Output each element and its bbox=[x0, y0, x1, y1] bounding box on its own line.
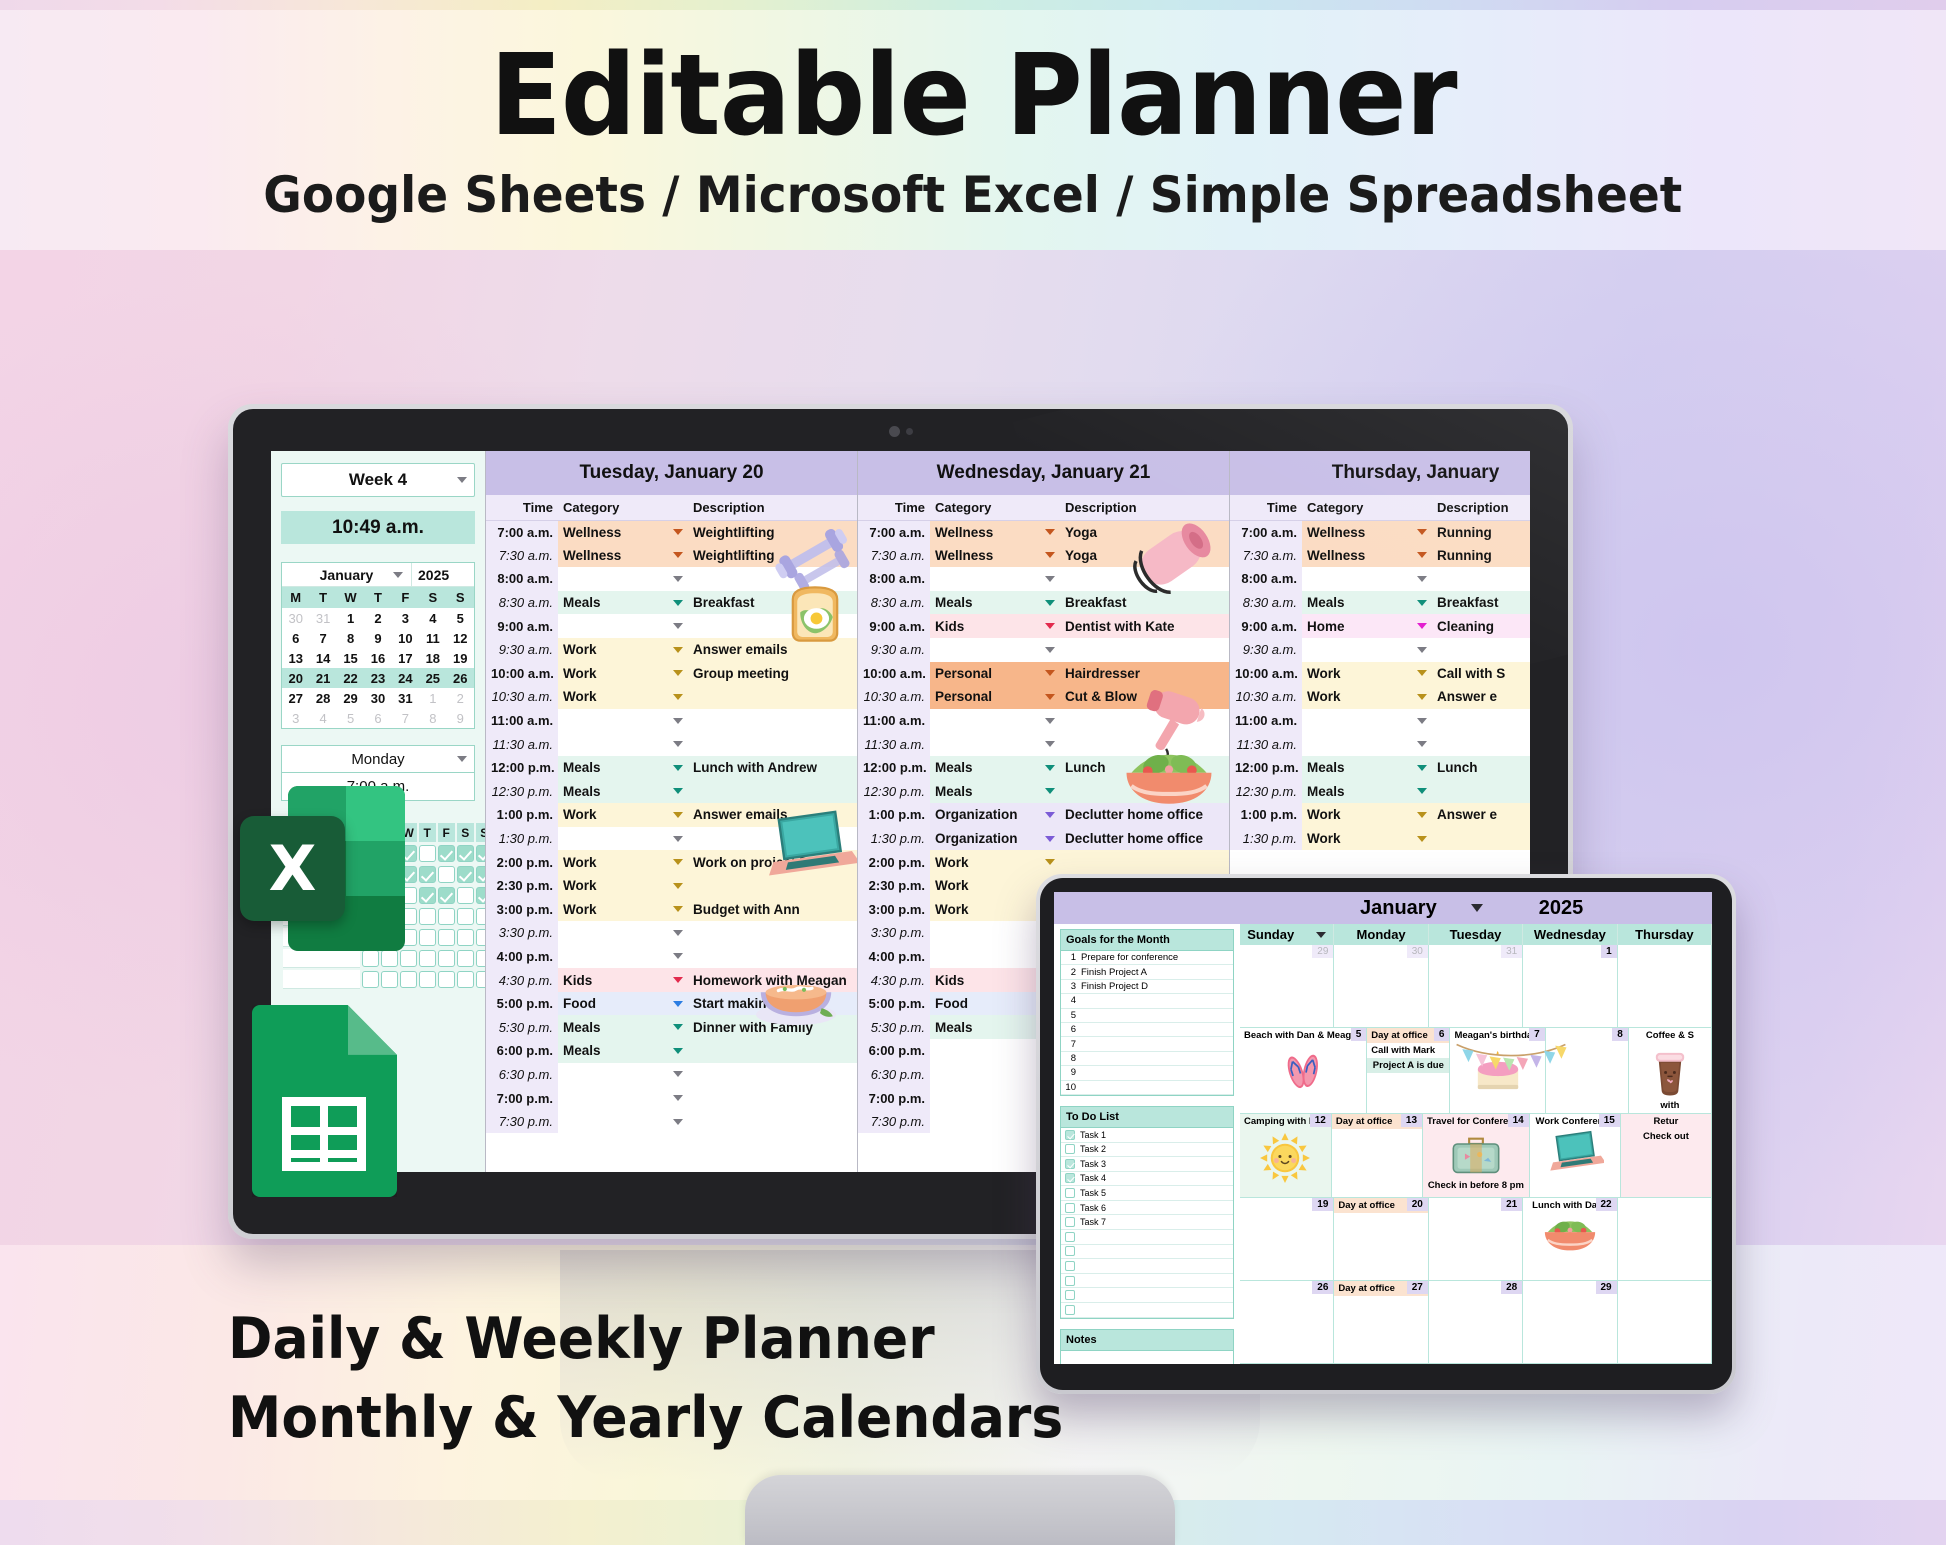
habit-checkbox[interactable] bbox=[438, 928, 455, 947]
habit-checkbox[interactable] bbox=[362, 949, 379, 968]
planner-row: 12:30 p.m.Meals bbox=[858, 780, 1229, 804]
monthly-day-cell[interactable]: 15Work Conference bbox=[1530, 1114, 1621, 1196]
row-category[interactable]: Work bbox=[558, 898, 688, 922]
hero-banner: Editable Planner Google Sheets / Microso… bbox=[0, 10, 1946, 250]
habit-name[interactable] bbox=[283, 949, 360, 968]
mini-calendar-day[interactable]: 3 bbox=[392, 608, 419, 628]
row-description[interactable]: Weightlifting bbox=[688, 520, 857, 544]
goal-number: 5 bbox=[1061, 1010, 1081, 1021]
habit-checkbox[interactable] bbox=[457, 949, 474, 968]
year-field[interactable]: 2025 bbox=[412, 563, 474, 586]
row-description[interactable]: Work on project E bbox=[688, 850, 857, 874]
mini-calendar-day[interactable]: 31 bbox=[392, 688, 419, 708]
habit-checkbox[interactable] bbox=[419, 949, 436, 968]
todo-checkbox[interactable] bbox=[1065, 1173, 1075, 1183]
monthly-day-cell[interactable]: 31 bbox=[1429, 945, 1523, 1027]
row-description[interactable] bbox=[1432, 780, 1530, 804]
todo-row[interactable]: Task 2 bbox=[1061, 1143, 1233, 1158]
monthly-dow-sunday: Sunday bbox=[1240, 924, 1334, 945]
todo-checkbox[interactable] bbox=[1065, 1159, 1075, 1169]
row-description[interactable]: Yoga bbox=[1060, 544, 1229, 568]
mini-calendar-day[interactable]: 8 bbox=[419, 708, 446, 728]
mini-calendar-day[interactable]: 2 bbox=[447, 688, 474, 708]
row-description[interactable] bbox=[688, 1110, 857, 1134]
row-time: 1:30 p.m. bbox=[486, 827, 558, 851]
day-column-title: Thursday, January bbox=[1230, 451, 1530, 495]
habit-checkbox[interactable] bbox=[381, 949, 398, 968]
habit-checkbox[interactable] bbox=[419, 928, 436, 947]
row-category[interactable]: Meals bbox=[558, 1015, 688, 1039]
row-category[interactable]: Meals bbox=[930, 756, 1060, 780]
row-category[interactable]: Work bbox=[930, 850, 1060, 874]
row-description[interactable] bbox=[1432, 638, 1530, 662]
row-time: 10:30 a.m. bbox=[1230, 685, 1302, 709]
monthly-day-cell[interactable]: 12Camping with Dan bbox=[1240, 1114, 1332, 1196]
row-category[interactable]: Wellness bbox=[1302, 520, 1432, 544]
row-category[interactable]: Meals bbox=[558, 756, 688, 780]
todo-checkbox[interactable] bbox=[1065, 1290, 1075, 1300]
row-description[interactable]: Weightlifting bbox=[688, 544, 857, 568]
mini-calendar-day[interactable]: 1 bbox=[419, 688, 446, 708]
row-category[interactable]: Meals bbox=[558, 591, 688, 615]
row-description[interactable]: Running bbox=[1432, 520, 1530, 544]
row-category[interactable]: Work bbox=[558, 685, 688, 709]
mini-calendar-dow-2: W bbox=[337, 587, 364, 608]
chevron-down-icon bbox=[1045, 741, 1055, 747]
monthly-dow-wednesday: Wednesday bbox=[1523, 924, 1617, 945]
mini-calendar-day[interactable]: 20 bbox=[282, 668, 309, 688]
row-description[interactable] bbox=[1432, 732, 1530, 756]
mini-calendar-day[interactable]: 27 bbox=[282, 688, 309, 708]
monthly-day-cell[interactable]: 22Lunch with Dave bbox=[1523, 1198, 1617, 1280]
calendar-event[interactable]: Beach with Dan & Meagan bbox=[1240, 1028, 1366, 1043]
habit-checkbox[interactable] bbox=[457, 907, 474, 926]
calendar-event[interactable]: Call with Mark bbox=[1367, 1043, 1449, 1058]
mini-calendar-day[interactable]: 9 bbox=[447, 708, 474, 728]
row-category[interactable]: Meals bbox=[1302, 756, 1432, 780]
row-description[interactable] bbox=[1060, 638, 1229, 662]
todo-checkbox[interactable] bbox=[1065, 1217, 1075, 1227]
habit-checkbox[interactable] bbox=[438, 886, 455, 905]
mini-calendar-day[interactable]: 15 bbox=[337, 648, 364, 668]
chevron-down-icon bbox=[1045, 859, 1055, 865]
habit-checkbox[interactable] bbox=[438, 970, 455, 989]
planner-row: 2:30 p.m.Work bbox=[486, 874, 857, 898]
row-description[interactable]: Breakfast bbox=[1432, 591, 1530, 615]
todo-checkbox[interactable] bbox=[1065, 1203, 1075, 1213]
todo-row[interactable]: Task 4 bbox=[1061, 1172, 1233, 1187]
mini-calendar-day[interactable]: 12 bbox=[447, 628, 474, 648]
row-description[interactable] bbox=[688, 614, 857, 638]
row-description[interactable]: Lunch bbox=[1060, 756, 1229, 780]
microsoft-excel-icon: X bbox=[240, 786, 405, 951]
mini-calendar-week: 303112345 bbox=[282, 608, 474, 628]
row-description[interactable]: Homework with Meagan bbox=[688, 968, 857, 992]
row-category[interactable]: Work bbox=[558, 803, 688, 827]
mini-calendar-day[interactable]: 26 bbox=[447, 668, 474, 688]
row-time: 3:30 p.m. bbox=[858, 921, 930, 945]
mini-calendar-day[interactable]: 19 bbox=[447, 648, 474, 668]
week-selector[interactable]: Week 4 bbox=[281, 463, 475, 497]
monthly-day-cell[interactable]: 5Beach with Dan & Meagan bbox=[1240, 1028, 1367, 1113]
goal-row[interactable]: 10 bbox=[1061, 1081, 1233, 1095]
row-category[interactable]: Work bbox=[1302, 827, 1432, 851]
row-category[interactable]: Organization bbox=[930, 827, 1060, 851]
row-description[interactable] bbox=[688, 945, 857, 969]
row-description[interactable]: Breakfast bbox=[1060, 591, 1229, 615]
habit-checkbox[interactable] bbox=[419, 844, 436, 863]
row-category[interactable]: Work bbox=[1302, 662, 1432, 686]
row-description[interactable] bbox=[1060, 850, 1229, 874]
monthly-day-cell[interactable]: 8 bbox=[1546, 1028, 1629, 1113]
row-category[interactable] bbox=[1302, 732, 1432, 756]
mini-calendar-day[interactable]: 31 bbox=[309, 608, 336, 628]
row-time: 2:30 p.m. bbox=[486, 874, 558, 898]
row-category[interactable] bbox=[930, 638, 1060, 662]
habit-name[interactable] bbox=[283, 970, 360, 989]
row-category[interactable] bbox=[1302, 709, 1432, 733]
goal-row[interactable]: 6 bbox=[1061, 1023, 1233, 1037]
row-description[interactable]: Lunch bbox=[1432, 756, 1530, 780]
mini-calendar-day[interactable]: 4 bbox=[419, 608, 446, 628]
month-selector[interactable]: January bbox=[1360, 897, 1483, 920]
tagline-line-2: Monthly & Yearly Calendars bbox=[228, 1379, 1168, 1458]
row-description[interactable] bbox=[688, 709, 857, 733]
row-category[interactable] bbox=[558, 921, 688, 945]
day-selector[interactable]: Monday bbox=[281, 745, 475, 773]
goal-row[interactable]: 5 bbox=[1061, 1009, 1233, 1023]
habit-checkbox[interactable] bbox=[419, 970, 436, 989]
row-description[interactable]: Cut & Blow bbox=[1060, 685, 1229, 709]
habit-checkbox[interactable] bbox=[400, 949, 417, 968]
monthly-day-cell[interactable] bbox=[1618, 1198, 1712, 1280]
row-category[interactable]: Food bbox=[558, 992, 688, 1016]
habit-checkbox[interactable] bbox=[419, 886, 436, 905]
todo-row[interactable] bbox=[1061, 1274, 1233, 1289]
mini-calendar-day[interactable]: 28 bbox=[309, 688, 336, 708]
row-description[interactable] bbox=[1432, 827, 1530, 851]
row-category[interactable]: Meals bbox=[1302, 780, 1432, 804]
monthly-day-cell[interactable]: 30 bbox=[1334, 945, 1428, 1027]
row-description[interactable]: Breakfast bbox=[688, 591, 857, 615]
birthday-cake-sticker bbox=[1468, 1044, 1528, 1094]
goal-row[interactable]: 1Prepare for conference bbox=[1061, 951, 1233, 965]
row-description[interactable] bbox=[688, 921, 857, 945]
todo-row[interactable]: Task 7 bbox=[1061, 1215, 1233, 1230]
row-category[interactable]: Work bbox=[1302, 803, 1432, 827]
row-description[interactable] bbox=[1060, 567, 1229, 591]
row-category[interactable] bbox=[558, 732, 688, 756]
row-description[interactable] bbox=[688, 567, 857, 591]
row-time: 11:30 a.m. bbox=[486, 732, 558, 756]
row-description[interactable] bbox=[688, 874, 857, 898]
habit-checkbox[interactable] bbox=[457, 928, 474, 947]
monthly-day-cell[interactable]: Coffee & Swith bbox=[1629, 1028, 1712, 1113]
row-description[interactable] bbox=[688, 1039, 857, 1063]
row-description[interactable]: Answer e bbox=[1432, 803, 1530, 827]
tagline-line-1: Daily & Weekly Planner bbox=[228, 1300, 1168, 1379]
todo-checkbox[interactable] bbox=[1065, 1144, 1075, 1154]
monthly-day-cell[interactable]: 19 bbox=[1240, 1198, 1334, 1280]
row-time: 10:00 a.m. bbox=[486, 662, 558, 686]
row-category[interactable] bbox=[558, 709, 688, 733]
row-description[interactable]: Answer e bbox=[1432, 685, 1530, 709]
todo-row[interactable] bbox=[1061, 1245, 1233, 1260]
habit-checkbox[interactable] bbox=[362, 970, 379, 989]
monthly-day-cell[interactable]: 14Travel for ConferenceCheck in before 8… bbox=[1423, 1114, 1530, 1196]
todo-checkbox[interactable] bbox=[1065, 1276, 1075, 1286]
todo-checkbox[interactable] bbox=[1065, 1232, 1075, 1242]
planner-row: 7:00 p.m. bbox=[486, 1086, 857, 1110]
row-category[interactable] bbox=[558, 614, 688, 638]
row-category[interactable]: Wellness bbox=[930, 520, 1060, 544]
habit-checkbox[interactable] bbox=[457, 844, 474, 863]
habit-checkbox[interactable] bbox=[457, 886, 474, 905]
habit-checkbox[interactable] bbox=[419, 907, 436, 926]
row-category[interactable] bbox=[930, 732, 1060, 756]
row-category[interactable] bbox=[558, 827, 688, 851]
monthly-day-cell[interactable]: 29 bbox=[1240, 945, 1334, 1027]
calendar-event[interactable]: Check in before 8 pm bbox=[1423, 1178, 1529, 1193]
mini-calendar-day[interactable]: 18 bbox=[419, 648, 446, 668]
row-time: 1:30 p.m. bbox=[1230, 827, 1302, 851]
row-category[interactable] bbox=[930, 709, 1060, 733]
habit-checkbox[interactable] bbox=[438, 865, 455, 884]
calendar-event[interactable]: Project A is due bbox=[1367, 1058, 1449, 1073]
row-description[interactable] bbox=[1060, 732, 1229, 756]
goals-panel-title: Goals for the Month bbox=[1060, 929, 1234, 950]
todo-row[interactable] bbox=[1061, 1230, 1233, 1245]
mini-calendar-day[interactable]: 25 bbox=[419, 668, 446, 688]
monthly-day-cell[interactable]: 6Day at officeCall with MarkProject A is… bbox=[1367, 1028, 1450, 1113]
row-description[interactable]: Hairdresser bbox=[1060, 662, 1229, 686]
day-number: 13 bbox=[1401, 1114, 1422, 1127]
habit-checkbox[interactable] bbox=[438, 844, 455, 863]
row-category[interactable]: Meals bbox=[558, 1039, 688, 1063]
habit-checkbox[interactable] bbox=[419, 865, 436, 884]
mini-calendar-day[interactable]: 16 bbox=[364, 648, 391, 668]
monthly-day-cell[interactable]: ReturCheck out bbox=[1621, 1114, 1712, 1196]
mini-calendar-day[interactable]: 6 bbox=[282, 628, 309, 648]
mini-calendar-day[interactable]: 24 bbox=[392, 668, 419, 688]
todo-checkbox[interactable] bbox=[1065, 1246, 1075, 1256]
day-number: 5 bbox=[1351, 1028, 1367, 1041]
habit-checkbox[interactable] bbox=[457, 865, 474, 884]
row-category[interactable]: Wellness bbox=[930, 544, 1060, 568]
row-category[interactable] bbox=[558, 567, 688, 591]
row-category[interactable]: Work bbox=[558, 638, 688, 662]
row-description[interactable] bbox=[1432, 709, 1530, 733]
row-description[interactable]: Call with S bbox=[1432, 662, 1530, 686]
calendar-event[interactable]: with bbox=[1629, 1098, 1711, 1113]
monthly-day-cell[interactable]: 28 bbox=[1429, 1281, 1523, 1363]
mini-calendar-day[interactable]: 14 bbox=[309, 648, 336, 668]
row-description[interactable] bbox=[688, 1086, 857, 1110]
todo-label: Task 2 bbox=[1080, 1144, 1106, 1154]
row-description[interactable]: Declutter home office bbox=[1060, 827, 1229, 851]
row-category[interactable]: Meals bbox=[558, 780, 688, 804]
todo-checkbox[interactable] bbox=[1065, 1188, 1075, 1198]
mini-calendar-day[interactable]: 2 bbox=[364, 608, 391, 628]
row-description[interactable]: Start making dinner bbox=[688, 992, 857, 1016]
day-number: 29 bbox=[1596, 1281, 1617, 1294]
row-time: 11:00 a.m. bbox=[1230, 709, 1302, 733]
monthly-grid: SundayMondayTuesdayWednesdayThursday 293… bbox=[1240, 924, 1712, 1364]
row-category[interactable]: Meals bbox=[930, 591, 1060, 615]
row-time: 8:00 a.m. bbox=[858, 567, 930, 591]
row-description[interactable]: Yoga bbox=[1060, 520, 1229, 544]
row-category[interactable]: Kids bbox=[558, 968, 688, 992]
chevron-down-icon bbox=[673, 670, 683, 676]
mini-calendar-day[interactable]: 29 bbox=[337, 688, 364, 708]
habit-checkbox[interactable] bbox=[400, 970, 417, 989]
row-description[interactable]: Dentist with Kate bbox=[1060, 614, 1229, 638]
row-category[interactable]: Personal bbox=[930, 685, 1060, 709]
monthly-day-cell[interactable]: 1 bbox=[1523, 945, 1617, 1027]
row-category[interactable]: Wellness bbox=[558, 544, 688, 568]
row-category[interactable]: Organization bbox=[930, 803, 1060, 827]
row-description[interactable] bbox=[1060, 709, 1229, 733]
mini-calendar-day[interactable]: 30 bbox=[282, 608, 309, 628]
row-description[interactable]: Answer emails bbox=[688, 638, 857, 662]
mini-calendar-day[interactable]: 23 bbox=[364, 668, 391, 688]
mini-calendar-day[interactable]: 5 bbox=[447, 608, 474, 628]
todo-checkbox[interactable] bbox=[1065, 1130, 1075, 1140]
row-description[interactable] bbox=[1432, 567, 1530, 591]
planner-row: 3:30 p.m. bbox=[486, 921, 857, 945]
monthly-day-cell[interactable]: 29 bbox=[1523, 1281, 1617, 1363]
row-description[interactable] bbox=[688, 780, 857, 804]
chevron-down-icon bbox=[1417, 741, 1427, 747]
row-time: 9:30 a.m. bbox=[858, 638, 930, 662]
mini-calendar-day[interactable]: 7 bbox=[309, 628, 336, 648]
mini-calendar-day[interactable]: 10 bbox=[392, 628, 419, 648]
mini-calendar-day[interactable]: 21 bbox=[309, 668, 336, 688]
calendar-event[interactable]: Retur bbox=[1621, 1114, 1711, 1129]
row-time: 8:30 a.m. bbox=[1230, 591, 1302, 615]
row-description[interactable]: Lunch with Andrew bbox=[688, 756, 857, 780]
row-description[interactable]: Answer emails bbox=[688, 803, 857, 827]
mini-calendar-day[interactable]: 9 bbox=[364, 628, 391, 648]
goal-row[interactable]: 2Finish Project A bbox=[1061, 965, 1233, 979]
todo-checkbox[interactable] bbox=[1065, 1261, 1075, 1271]
row-category[interactable]: Personal bbox=[930, 662, 1060, 686]
day-number: 29 bbox=[1312, 945, 1333, 958]
planner-row: 9:30 a.m.WorkAnswer emails bbox=[486, 638, 857, 662]
row-category[interactable] bbox=[1302, 638, 1432, 662]
calendar-event[interactable]: Check out bbox=[1621, 1129, 1711, 1144]
monthly-dow-monday: Monday bbox=[1334, 924, 1428, 945]
row-category[interactable]: Wellness bbox=[558, 520, 688, 544]
row-category[interactable] bbox=[558, 1086, 688, 1110]
monthly-day-cell[interactable] bbox=[1618, 945, 1712, 1027]
row-description[interactable] bbox=[688, 732, 857, 756]
mini-calendar-day[interactable]: 11 bbox=[419, 628, 446, 648]
row-time: 4:00 p.m. bbox=[486, 945, 558, 969]
todo-row[interactable]: Task 3 bbox=[1061, 1157, 1233, 1172]
goal-row[interactable]: 9 bbox=[1061, 1066, 1233, 1080]
mini-calendar-day[interactable]: 6 bbox=[364, 708, 391, 728]
monthly-day-cell[interactable]: 21 bbox=[1429, 1198, 1523, 1280]
row-category[interactable] bbox=[930, 567, 1060, 591]
month-selector[interactable]: January bbox=[282, 563, 412, 586]
chevron-down-icon bbox=[1417, 623, 1427, 629]
mini-calendar-day[interactable]: 7 bbox=[392, 708, 419, 728]
mini-calendar-day[interactable]: 3 bbox=[282, 708, 309, 728]
row-description[interactable] bbox=[688, 827, 857, 851]
row-description[interactable] bbox=[688, 1063, 857, 1087]
row-description[interactable]: Cleaning bbox=[1432, 614, 1530, 638]
row-time: 12:00 p.m. bbox=[486, 756, 558, 780]
monthly-day-cell[interactable]: 26 bbox=[1240, 1281, 1334, 1363]
habit-checkbox[interactable] bbox=[381, 970, 398, 989]
row-category[interactable]: Work bbox=[1302, 685, 1432, 709]
goal-row[interactable]: 4 bbox=[1061, 994, 1233, 1008]
goal-row[interactable]: 3Finish Project D bbox=[1061, 980, 1233, 994]
row-description[interactable] bbox=[688, 685, 857, 709]
monthly-day-cell[interactable] bbox=[1618, 1281, 1712, 1363]
monthly-day-cell[interactable]: 27Day at office bbox=[1334, 1281, 1428, 1363]
mini-calendar-day[interactable]: 4 bbox=[309, 708, 336, 728]
todo-row[interactable]: Task 5 bbox=[1061, 1186, 1233, 1201]
row-description[interactable]: Dinner with Family bbox=[688, 1015, 857, 1039]
row-category[interactable] bbox=[558, 945, 688, 969]
row-description[interactable] bbox=[1060, 780, 1229, 804]
mini-calendar-day[interactable]: 17 bbox=[392, 648, 419, 668]
mini-calendar-day[interactable]: 13 bbox=[282, 648, 309, 668]
goal-number: 9 bbox=[1061, 1067, 1081, 1078]
row-description[interactable]: Group meeting bbox=[688, 662, 857, 686]
habit-checkbox[interactable] bbox=[457, 970, 474, 989]
habit-checkbox[interactable] bbox=[438, 949, 455, 968]
mini-calendar-day[interactable]: 22 bbox=[337, 668, 364, 688]
row-category[interactable] bbox=[1302, 567, 1432, 591]
goal-row[interactable]: 7 bbox=[1061, 1037, 1233, 1051]
mini-calendar-day[interactable]: 5 bbox=[337, 708, 364, 728]
mini-calendar-day[interactable]: 1 bbox=[337, 608, 364, 628]
mini-calendar-day[interactable]: 30 bbox=[364, 688, 391, 708]
row-category[interactable]: Work bbox=[558, 662, 688, 686]
row-category[interactable] bbox=[558, 1063, 688, 1087]
habit-checkbox[interactable] bbox=[438, 907, 455, 926]
row-category[interactable]: Meals bbox=[1302, 591, 1432, 615]
goal-row[interactable]: 8 bbox=[1061, 1052, 1233, 1066]
row-category[interactable]: Work bbox=[558, 874, 688, 898]
todo-row[interactable] bbox=[1061, 1259, 1233, 1274]
row-category[interactable]: Wellness bbox=[1302, 544, 1432, 568]
todo-row[interactable]: Task 1 bbox=[1061, 1128, 1233, 1143]
year-field[interactable]: 2025 bbox=[1539, 897, 1584, 920]
monthly-day-cell[interactable]: 7Meagan's birthday! bbox=[1450, 1028, 1545, 1113]
monthly-day-cell[interactable]: 13Day at office bbox=[1332, 1114, 1423, 1196]
planner-row: 7:30 a.m.WellnessYoga bbox=[858, 544, 1229, 568]
monthly-day-cell[interactable]: 20Day at office bbox=[1334, 1198, 1428, 1280]
row-category[interactable]: Work bbox=[558, 850, 688, 874]
calendar-event[interactable]: Coffee & S bbox=[1629, 1028, 1711, 1043]
todo-label: Task 6 bbox=[1080, 1203, 1106, 1213]
row-category[interactable]: Kids bbox=[930, 614, 1060, 638]
todo-row[interactable]: Task 6 bbox=[1061, 1201, 1233, 1216]
row-category[interactable]: Meals bbox=[930, 780, 1060, 804]
row-description[interactable]: Budget with Ann bbox=[688, 898, 857, 922]
planner-row: 7:00 a.m.WellnessRunning bbox=[1230, 520, 1530, 544]
mini-calendar-day[interactable]: 8 bbox=[337, 628, 364, 648]
chevron-down-icon bbox=[1045, 576, 1055, 582]
row-category[interactable] bbox=[558, 1110, 688, 1134]
row-description[interactable]: Declutter home office bbox=[1060, 803, 1229, 827]
row-description[interactable]: Running bbox=[1432, 544, 1530, 568]
row-category[interactable]: Home bbox=[1302, 614, 1432, 638]
